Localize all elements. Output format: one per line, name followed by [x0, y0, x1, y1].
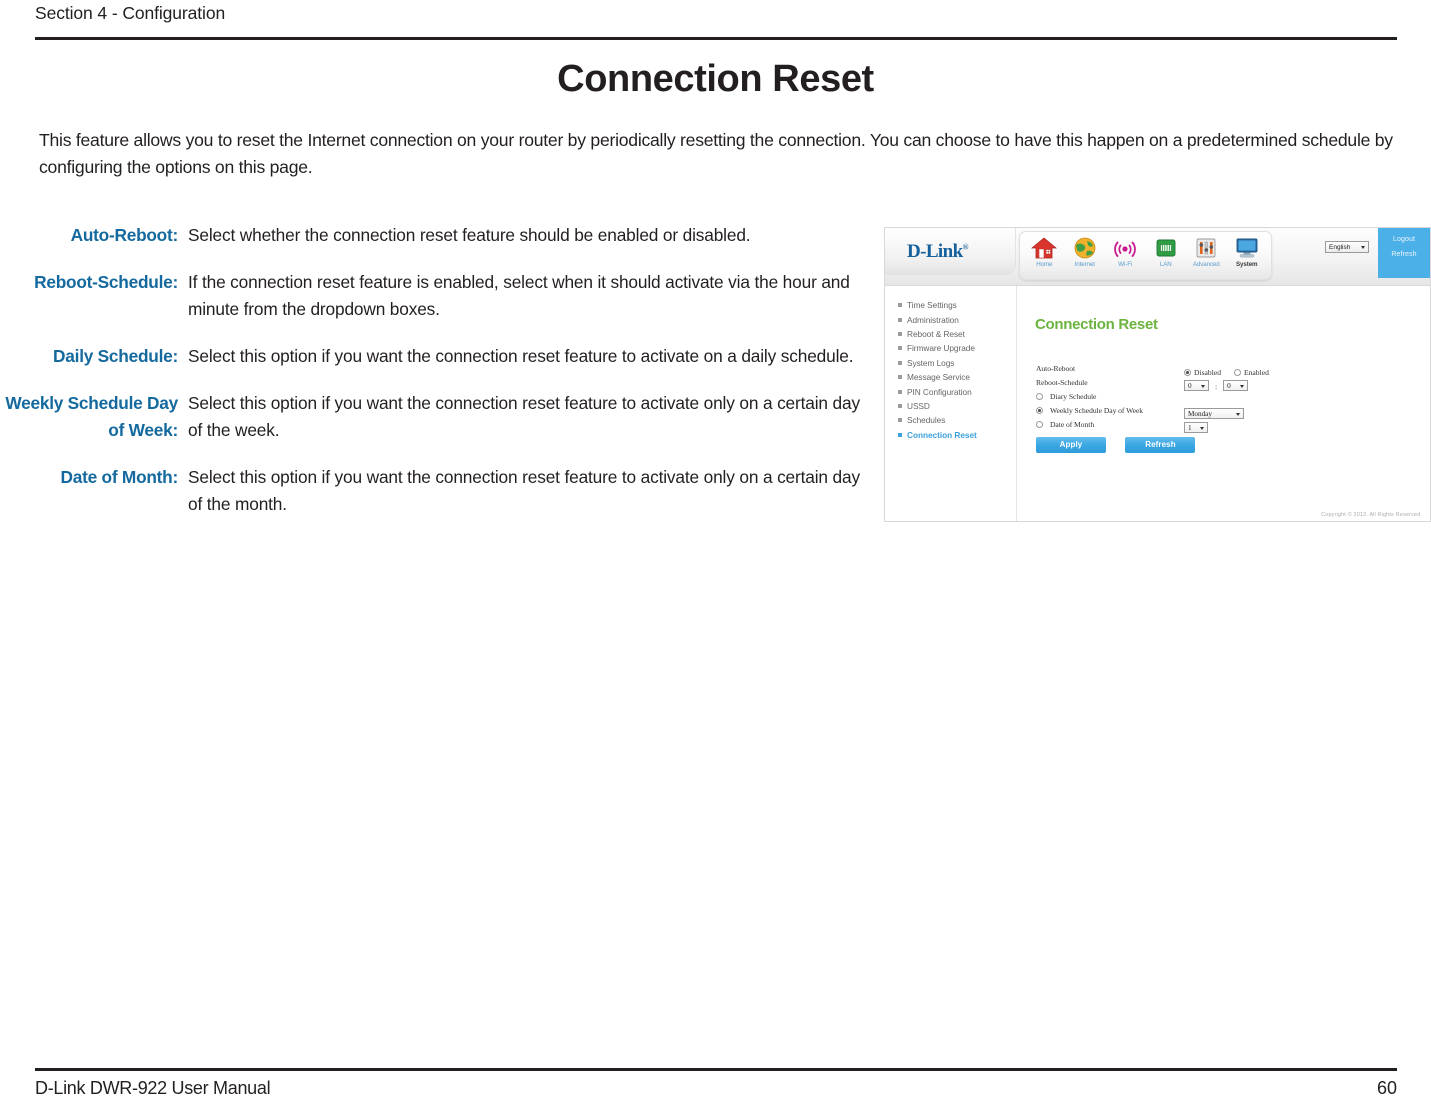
- sidebar-label: Connection Reset: [907, 430, 977, 440]
- language-select[interactable]: English: [1325, 241, 1369, 253]
- sidebar-item-firmware-upgrade[interactable]: Firmware Upgrade: [885, 341, 1016, 355]
- form-row-weekly-schedule[interactable]: Weekly Schedule Day of Week Monday: [1036, 404, 1396, 417]
- definition-row: Daily Schedule: Select this option if yo…: [0, 343, 860, 370]
- nav-item-home[interactable]: Home: [1024, 235, 1065, 268]
- sidebar-item-administration[interactable]: Administration: [885, 312, 1016, 326]
- form-row-reboot-schedule: Reboot-Schedule 0 : 0: [1036, 376, 1396, 389]
- sidebar-label: Message Service: [907, 372, 970, 382]
- bullet-icon: [898, 303, 902, 307]
- nav-label-internet: Internet: [1065, 261, 1106, 268]
- intro-paragraph: This feature allows you to reset the Int…: [39, 127, 1428, 181]
- chevron-down-icon: [1200, 427, 1204, 430]
- house-icon: [1031, 236, 1057, 260]
- radio-icon: [1184, 369, 1191, 376]
- nav-item-wifi[interactable]: Wi-Fi: [1105, 235, 1146, 268]
- sidebar-label: USSD: [907, 401, 930, 411]
- definition-row: Auto-Reboot: Select whether the connecti…: [0, 222, 860, 249]
- dlink-logo-text: D-Link: [907, 241, 963, 262]
- connection-reset-form: Auto-Reboot Disabled Enabled Reboot-Sche…: [1036, 362, 1396, 432]
- bullet-icon: [898, 332, 902, 336]
- reboot-hour-value: 0: [1188, 382, 1192, 390]
- definition-row: Weekly Schedule Day of Week: Select this…: [0, 390, 860, 444]
- definition-text-date-of-month: Select this option if you want the conne…: [178, 464, 860, 518]
- definition-row: Reboot-Schedule: If the connection reset…: [0, 269, 860, 323]
- chevron-down-icon: [1361, 246, 1365, 249]
- form-row-date-of-month[interactable]: Date of Month 1: [1036, 418, 1396, 431]
- sidebar-label: PIN Configuration: [907, 387, 972, 397]
- date-of-month-radio-icon[interactable]: [1036, 421, 1043, 428]
- monitor-icon: [1234, 236, 1260, 260]
- reboot-schedule-label: Reboot-Schedule: [1036, 376, 1088, 389]
- diary-schedule-radio-icon[interactable]: [1036, 393, 1043, 400]
- reboot-minute-value: 0: [1227, 382, 1231, 390]
- router-copyright: Copyright © 2012. All Rights Reserved.: [1321, 512, 1422, 518]
- header-divider: [35, 37, 1397, 40]
- definition-row: Date of Month: Select this option if you…: [0, 464, 860, 518]
- date-of-month-select[interactable]: 1: [1184, 422, 1208, 433]
- definition-text-daily-schedule: Select this option if you want the conne…: [178, 343, 860, 370]
- sidebar-label: Firmware Upgrade: [907, 343, 975, 353]
- definition-label-reboot-schedule: Reboot-Schedule:: [0, 269, 178, 296]
- lan-port-icon: [1153, 236, 1179, 260]
- nav-label-wifi: Wi-Fi: [1105, 261, 1146, 268]
- sidebar-label: System Logs: [907, 358, 954, 368]
- form-row-diary-schedule[interactable]: Diary Schedule: [1036, 390, 1396, 403]
- definition-list: Auto-Reboot: Select whether the connecti…: [0, 222, 860, 538]
- bullet-icon: [898, 433, 902, 437]
- weekly-schedule-label: Weekly Schedule Day of Week: [1050, 404, 1143, 417]
- nav-item-lan[interactable]: LAN: [1146, 235, 1187, 268]
- chevron-down-icon: [1240, 385, 1244, 388]
- definition-label-weekly-schedule: Weekly Schedule Day of Week:: [0, 390, 178, 444]
- nav-label-advanced: Advanced: [1186, 261, 1227, 268]
- definition-text-weekly-schedule: Select this option if you want the conne…: [178, 390, 860, 444]
- registered-mark-icon: ®: [963, 243, 968, 252]
- router-nav: Home Internet Wi-Fi: [1019, 231, 1272, 280]
- tools-icon: [1193, 236, 1219, 260]
- router-page-heading: Connection Reset: [1035, 316, 1158, 333]
- bullet-icon: [898, 390, 902, 394]
- form-action-buttons: Apply Refresh: [1036, 434, 1210, 453]
- dlink-logo: D-Link®: [907, 241, 968, 263]
- nav-item-system[interactable]: System: [1227, 235, 1268, 268]
- definition-text-auto-reboot: Select whether the connection reset feat…: [178, 222, 860, 249]
- page-title: Connection Reset: [0, 58, 1431, 101]
- bullet-icon: [898, 375, 902, 379]
- definition-label-date-of-month: Date of Month:: [0, 464, 178, 491]
- sidebar-item-time-settings[interactable]: Time Settings: [885, 298, 1016, 312]
- chevron-down-icon: [1236, 413, 1240, 416]
- nav-label-lan: LAN: [1146, 261, 1187, 268]
- bullet-icon: [898, 318, 902, 322]
- sidebar-item-connection-reset[interactable]: Connection Reset: [885, 428, 1016, 442]
- refresh-top-button[interactable]: Refresh: [1378, 251, 1430, 258]
- sidebar-item-schedules[interactable]: Schedules: [885, 413, 1016, 427]
- weekly-day-value: Monday: [1188, 410, 1212, 418]
- footer-manual-title: D-Link DWR-922 User Manual: [35, 1078, 270, 1099]
- sidebar-item-system-logs[interactable]: System Logs: [885, 356, 1016, 370]
- bullet-icon: [898, 418, 902, 422]
- logout-button[interactable]: Logout: [1378, 236, 1430, 243]
- nav-item-internet[interactable]: Internet: [1065, 235, 1106, 268]
- apply-button[interactable]: Apply: [1036, 437, 1106, 453]
- nav-label-system: System: [1227, 261, 1268, 268]
- sidebar-label: Reboot & Reset: [907, 329, 965, 339]
- section-header: Section 4 - Configuration: [35, 0, 1396, 38]
- sidebar-item-reboot-reset[interactable]: Reboot & Reset: [885, 327, 1016, 341]
- bullet-icon: [898, 404, 902, 408]
- auth-buttons-panel: Logout Refresh: [1378, 228, 1430, 278]
- auto-reboot-label: Auto-Reboot: [1036, 362, 1075, 375]
- nav-label-home: Home: [1024, 261, 1065, 268]
- weekly-schedule-radio-icon[interactable]: [1036, 407, 1043, 414]
- router-sidebar: Time Settings Administration Reboot & Re…: [885, 286, 1017, 522]
- radio-icon: [1234, 369, 1241, 376]
- footer-page-number: 60: [1377, 1078, 1397, 1099]
- definition-label-daily-schedule: Daily Schedule:: [0, 343, 178, 370]
- date-of-month-label: Date of Month: [1050, 418, 1094, 431]
- wifi-signal-icon: [1112, 236, 1138, 260]
- form-row-auto-reboot: Auto-Reboot Disabled Enabled: [1036, 362, 1396, 375]
- sidebar-item-ussd[interactable]: USSD: [885, 399, 1016, 413]
- sidebar-item-pin-configuration[interactable]: PIN Configuration: [885, 384, 1016, 398]
- sidebar-label: Schedules: [907, 415, 945, 425]
- language-select-value: English: [1329, 244, 1350, 251]
- globe-icon: [1072, 236, 1098, 260]
- sidebar-label: Time Settings: [907, 300, 957, 310]
- chevron-down-icon: [1201, 385, 1205, 388]
- refresh-button[interactable]: Refresh: [1125, 437, 1195, 453]
- router-logo-plate: D-Link®: [885, 228, 1016, 275]
- bullet-icon: [898, 346, 902, 350]
- router-topbar: D-Link® Home In: [885, 228, 1430, 286]
- nav-item-advanced[interactable]: Advanced: [1186, 235, 1227, 268]
- footer-divider: [35, 1068, 1397, 1071]
- router-content: Connection Reset Auto-Reboot Disabled En…: [1017, 286, 1430, 521]
- router-ui-screenshot: D-Link® Home In: [884, 227, 1431, 522]
- definition-label-auto-reboot: Auto-Reboot:: [0, 222, 178, 249]
- sidebar-item-message-service[interactable]: Message Service: [885, 370, 1016, 384]
- diary-schedule-label: Diary Schedule: [1050, 390, 1096, 403]
- definition-text-reboot-schedule: If the connection reset feature is enabl…: [178, 269, 860, 323]
- bullet-icon: [898, 361, 902, 365]
- date-of-month-value: 1: [1188, 424, 1192, 432]
- sidebar-label: Administration: [907, 315, 959, 325]
